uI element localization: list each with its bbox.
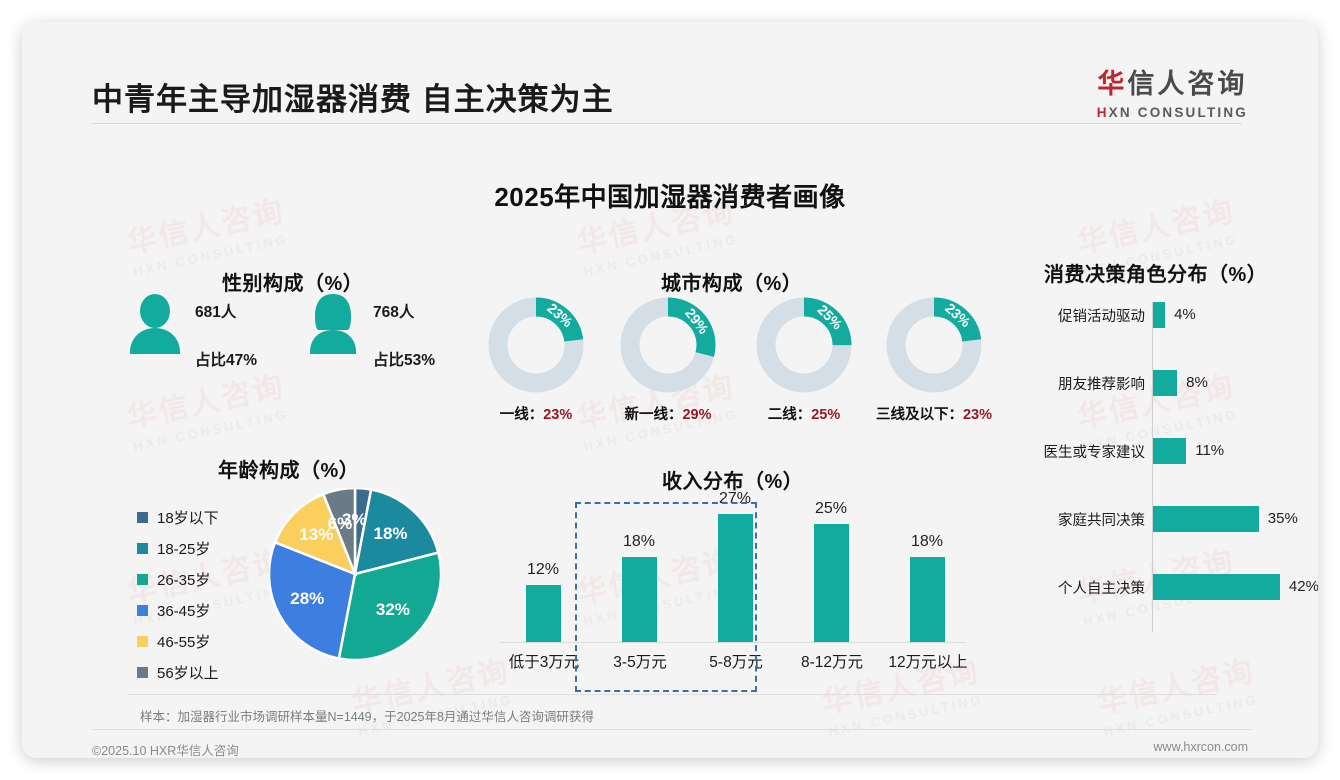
donut-item: 23%一线：23% bbox=[477, 297, 595, 424]
legend-swatch bbox=[137, 543, 148, 554]
legend-item: 26-35岁 bbox=[137, 564, 219, 595]
legend-swatch bbox=[137, 512, 148, 523]
decision-label: 家庭共同决策 bbox=[1040, 509, 1145, 530]
donut-chart: 23% bbox=[886, 297, 982, 393]
donut-caption: 二线：25% bbox=[745, 403, 863, 424]
sample-note: 样本：加湿器行业市场调研样本量N=1449，于2025年8月通过华信人咨询调研获… bbox=[140, 706, 594, 725]
donut-caption-name: 二线： bbox=[768, 407, 812, 423]
watermark-cn: 华信人咨询 bbox=[1092, 646, 1258, 722]
pie-value-label: 28% bbox=[290, 589, 324, 609]
decision-bar bbox=[1153, 370, 1177, 396]
income-bar bbox=[814, 524, 849, 642]
decision-bar-value: 8% bbox=[1186, 374, 1208, 391]
legend-swatch bbox=[137, 667, 148, 678]
logo-en-accent: H bbox=[1097, 105, 1109, 120]
logo-en-rest: XN CONSULTING bbox=[1109, 105, 1248, 120]
donut-caption-value: 23% bbox=[963, 407, 992, 423]
decision-section-title: 消费决策角色分布（%） bbox=[1044, 258, 1267, 287]
logo-accent-char: 华 bbox=[1097, 69, 1127, 99]
decision-label: 促销活动驱动 bbox=[1040, 305, 1145, 326]
slide-header: 中青年主导加湿器消费 自主决策为主 华信人咨询 HXN CONSULTING bbox=[22, 22, 1318, 127]
legend-swatch bbox=[137, 636, 148, 647]
decision-row: 朋友推荐影响8% bbox=[1040, 370, 1290, 396]
donut-item: 23%三线及以下：23% bbox=[875, 297, 993, 424]
income-bar-value: 25% bbox=[788, 500, 874, 518]
donut-caption-name: 三线及以下： bbox=[876, 407, 963, 423]
income-category-label: 12万元以上 bbox=[878, 650, 978, 672]
donut-caption: 一线：23% bbox=[477, 403, 595, 424]
donut-caption-name: 一线： bbox=[500, 407, 544, 423]
income-bar bbox=[910, 557, 945, 642]
watermark: 华信人咨询HXN CONSULTING bbox=[1092, 646, 1261, 739]
donut-caption-value: 25% bbox=[811, 407, 840, 423]
legend-label: 46-55岁 bbox=[157, 631, 210, 652]
gender-text: 768人占比53% bbox=[373, 300, 435, 370]
logo-chinese-rest: 信人咨询 bbox=[1127, 69, 1247, 99]
page-title: 中青年主导加湿器消费 自主决策为主 bbox=[92, 74, 614, 119]
income-bar bbox=[526, 585, 561, 642]
income-bar-value: 18% bbox=[884, 533, 970, 551]
donut-item: 25%二线：25% bbox=[745, 297, 863, 424]
watermark-en: HXN CONSULTING bbox=[827, 691, 987, 739]
gender-section-title: 性别构成（%） bbox=[222, 267, 363, 296]
decision-bar bbox=[1153, 438, 1186, 464]
donut-chart: 29% bbox=[620, 297, 716, 393]
legend-item: 18岁以下 bbox=[137, 502, 219, 533]
decision-label: 朋友推荐影响 bbox=[1040, 373, 1145, 394]
logo-english: HXN CONSULTING bbox=[1097, 105, 1248, 120]
donut-caption: 三线及以下：23% bbox=[875, 403, 993, 424]
income-highlight-box bbox=[575, 502, 757, 692]
chart-subtitle: 2025年中国加湿器消费者画像 bbox=[22, 177, 1318, 214]
note-divider bbox=[127, 694, 1217, 695]
legend-label: 26-35岁 bbox=[157, 569, 210, 590]
bar-column: 18% bbox=[884, 500, 970, 642]
gender-share: 占比53% bbox=[373, 348, 435, 370]
legend-label: 18岁以下 bbox=[157, 507, 219, 528]
website-url: www.hxrcon.com bbox=[1154, 740, 1248, 754]
decision-bar bbox=[1153, 302, 1165, 328]
age-section-title: 年龄构成（%） bbox=[218, 454, 359, 483]
decision-bar-value: 4% bbox=[1174, 306, 1196, 323]
decision-row: 个人自主决策42% bbox=[1040, 574, 1290, 600]
decision-bar-value: 35% bbox=[1268, 510, 1298, 527]
income-category-label: 8-12万元 bbox=[782, 650, 882, 672]
watermark-en: HXN CONSULTING bbox=[1102, 691, 1262, 739]
logo-chinese: 华信人咨询 bbox=[1097, 62, 1248, 101]
decision-bar bbox=[1153, 506, 1259, 532]
footer-divider bbox=[92, 729, 1252, 730]
watermark-en: HXN CONSULTING bbox=[132, 406, 292, 454]
legend-item: 56岁以上 bbox=[137, 657, 219, 688]
slide-canvas: 华信人咨询HXN CONSULTING华信人咨询HXN CONSULTING华信… bbox=[22, 22, 1318, 758]
gender-count: 681人 bbox=[195, 300, 257, 322]
decision-row: 促销活动驱动4% bbox=[1040, 302, 1290, 328]
watermark: 华信人咨询HXN CONSULTING bbox=[122, 361, 291, 454]
bar-column: 25% bbox=[788, 500, 874, 642]
legend-item: 36-45岁 bbox=[137, 595, 219, 626]
decision-bar-value: 11% bbox=[1195, 442, 1224, 459]
copyright-text: ©2025.10 HXR华信人咨询 bbox=[92, 740, 239, 758]
legend-swatch bbox=[137, 605, 148, 616]
legend-label: 56岁以上 bbox=[157, 662, 219, 683]
decision-bar bbox=[1153, 574, 1280, 600]
pie-value-label: 6% bbox=[328, 514, 353, 534]
donut-caption: 新一线：29% bbox=[609, 403, 727, 424]
legend-swatch bbox=[137, 574, 148, 585]
donut-caption-value: 29% bbox=[682, 407, 711, 423]
donut-chart: 25% bbox=[756, 297, 852, 393]
pie-value-label: 32% bbox=[376, 600, 410, 620]
decision-bar-value: 42% bbox=[1289, 578, 1318, 595]
header-divider bbox=[92, 123, 1242, 124]
donut-caption-name: 新一线： bbox=[624, 407, 682, 423]
legend-item: 46-55岁 bbox=[137, 626, 219, 657]
watermark-cn: 华信人咨询 bbox=[122, 361, 288, 437]
age-pie: 3%18%32%28%13%6% bbox=[269, 488, 441, 665]
legend-item: 18-25岁 bbox=[137, 533, 219, 564]
gender-text: 681人占比47% bbox=[195, 300, 257, 370]
pie-value-label: 18% bbox=[374, 524, 408, 544]
decision-label: 医生或专家建议 bbox=[1040, 441, 1145, 462]
male-icon bbox=[127, 294, 183, 354]
donut-caption-value: 23% bbox=[543, 407, 572, 423]
city-section-title: 城市构成（%） bbox=[661, 267, 802, 296]
female-icon bbox=[305, 294, 361, 354]
company-logo: 华信人咨询 HXN CONSULTING bbox=[1097, 62, 1248, 120]
gender-share: 占比47% bbox=[195, 348, 257, 370]
donut-chart: 23% bbox=[488, 297, 584, 393]
bar-column: 12% bbox=[500, 500, 586, 642]
decision-plot-area: 促销活动驱动4%朋友推荐影响8%医生或专家建议11%家庭共同决策35%个人自主决… bbox=[1040, 302, 1290, 632]
income-bar-value: 12% bbox=[500, 561, 586, 579]
decision-row: 家庭共同决策35% bbox=[1040, 506, 1290, 532]
decision-label: 个人自主决策 bbox=[1040, 577, 1145, 598]
legend-label: 36-45岁 bbox=[157, 600, 210, 621]
donut-item: 29%新一线：29% bbox=[609, 297, 727, 424]
decision-row: 医生或专家建议11% bbox=[1040, 438, 1290, 464]
legend-label: 18-25岁 bbox=[157, 538, 210, 559]
gender-count: 768人 bbox=[373, 300, 435, 322]
age-legend: 18岁以下18-25岁26-35岁36-45岁46-55岁56岁以上 bbox=[137, 502, 219, 688]
